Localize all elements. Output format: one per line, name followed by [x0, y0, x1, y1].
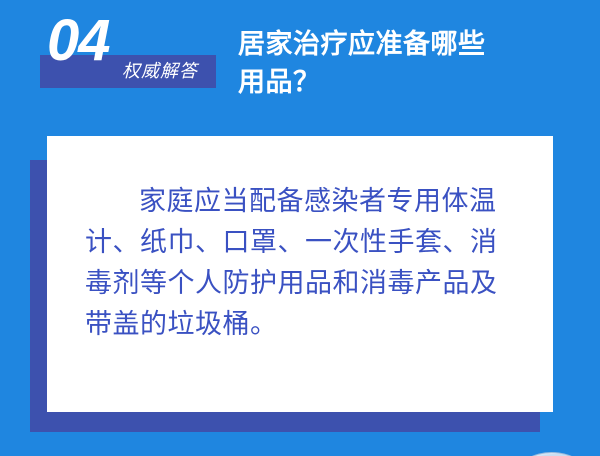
- surgical-mask-icon: [511, 452, 600, 456]
- issue-number: 04: [47, 12, 110, 70]
- content-card: 家庭应当配备感染者专用体温计、纸巾、口罩、一次性手套、消毒剂等个人防护用品和消毒…: [47, 136, 553, 412]
- supplies-illustration: [467, 444, 600, 456]
- card-body-text: 家庭应当配备感染者专用体温计、纸巾、口罩、一次性手套、消毒剂等个人防护用品和消毒…: [85, 181, 515, 345]
- kicker-label: 权威解答: [122, 58, 198, 84]
